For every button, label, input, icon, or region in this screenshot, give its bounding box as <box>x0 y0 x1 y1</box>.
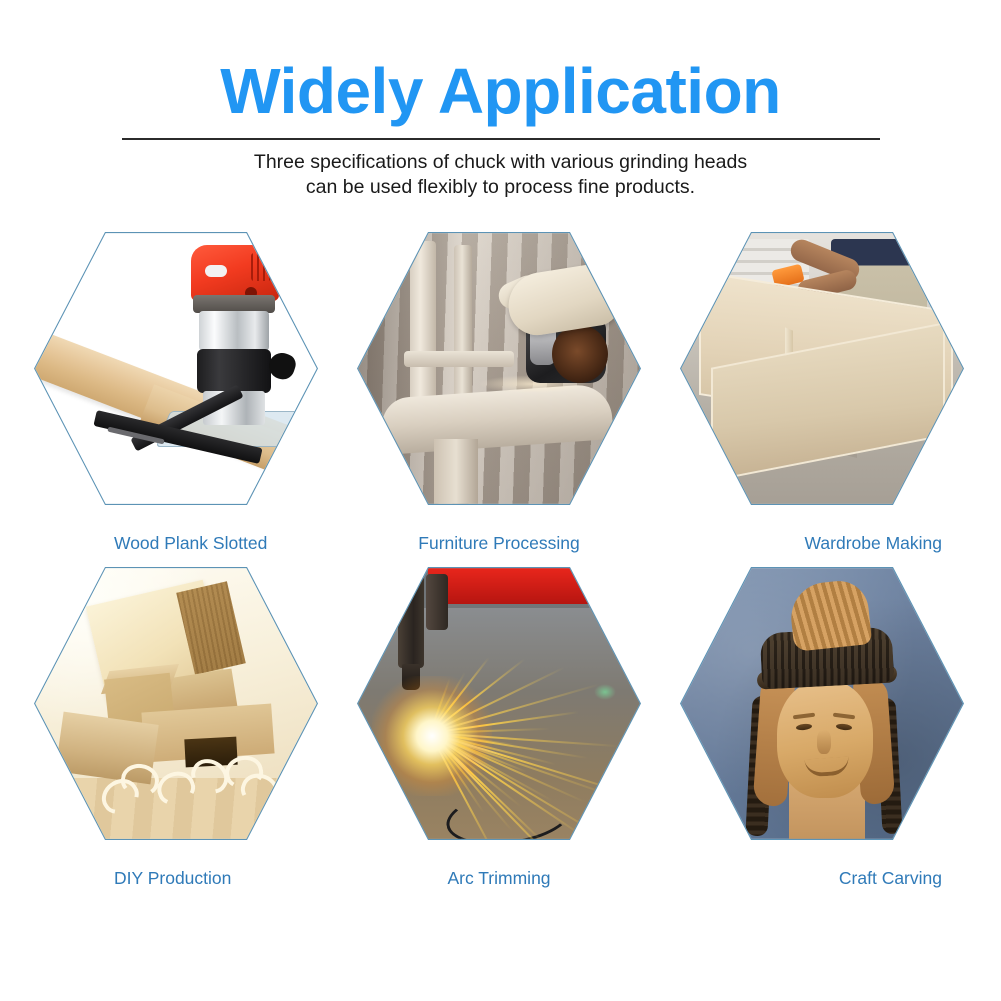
hexagon-frame <box>680 567 964 840</box>
photo-furniture-processing <box>358 233 639 503</box>
hexagon-frame <box>34 567 318 840</box>
subtitle-line-1: Three specifications of chuck with vario… <box>0 150 1001 175</box>
grid-row-2: DIY Production <box>0 567 1001 902</box>
tile-caption: DIY Production <box>26 867 326 889</box>
photo-craft-carving <box>681 568 962 838</box>
application-tile-arc-trimming[interactable]: Arc Trimming <box>349 567 649 902</box>
photo-diy-production <box>35 568 316 838</box>
page-title: Widely Application <box>0 0 1001 125</box>
photo-wood-plank-slotted <box>35 233 316 503</box>
tile-caption: Furniture Processing <box>349 532 649 554</box>
subtitle: Three specifications of chuck with vario… <box>0 150 1001 200</box>
application-tile-furniture-processing[interactable]: Furniture Processing <box>349 232 649 567</box>
header: Widely Application Three specifications … <box>0 0 1001 125</box>
hexagon-image-mask <box>681 233 962 503</box>
application-grid: Wood Plank Slotted <box>0 232 1001 902</box>
title-divider <box>122 138 880 140</box>
application-tile-wardrobe-making[interactable]: Wardrobe Making <box>672 232 972 567</box>
hexagon-image-mask <box>681 568 962 838</box>
tile-caption: Wardrobe Making <box>672 532 972 554</box>
hexagon-image-mask <box>35 233 316 503</box>
hexagon-frame <box>680 232 964 505</box>
photo-arc-trimming <box>358 568 639 838</box>
grid-row-1: Wood Plank Slotted <box>0 232 1001 567</box>
application-tile-diy-production[interactable]: DIY Production <box>26 567 326 902</box>
application-tile-wood-plank-slotted[interactable]: Wood Plank Slotted <box>26 232 326 567</box>
hexagon-frame <box>357 567 641 840</box>
hexagon-frame <box>34 232 318 505</box>
hexagon-image-mask <box>35 568 316 838</box>
subtitle-line-2: can be used flexibly to process fine pro… <box>0 175 1001 200</box>
tile-caption: Arc Trimming <box>349 867 649 889</box>
tile-caption: Craft Carving <box>672 867 972 889</box>
hexagon-image-mask <box>358 568 639 838</box>
hexagon-image-mask <box>358 233 639 503</box>
product-feature-page: Widely Application Three specifications … <box>0 0 1001 1001</box>
hexagon-frame <box>357 232 641 505</box>
photo-wardrobe-making <box>681 233 962 503</box>
application-tile-craft-carving[interactable]: Craft Carving <box>672 567 972 902</box>
tile-caption: Wood Plank Slotted <box>26 532 326 554</box>
